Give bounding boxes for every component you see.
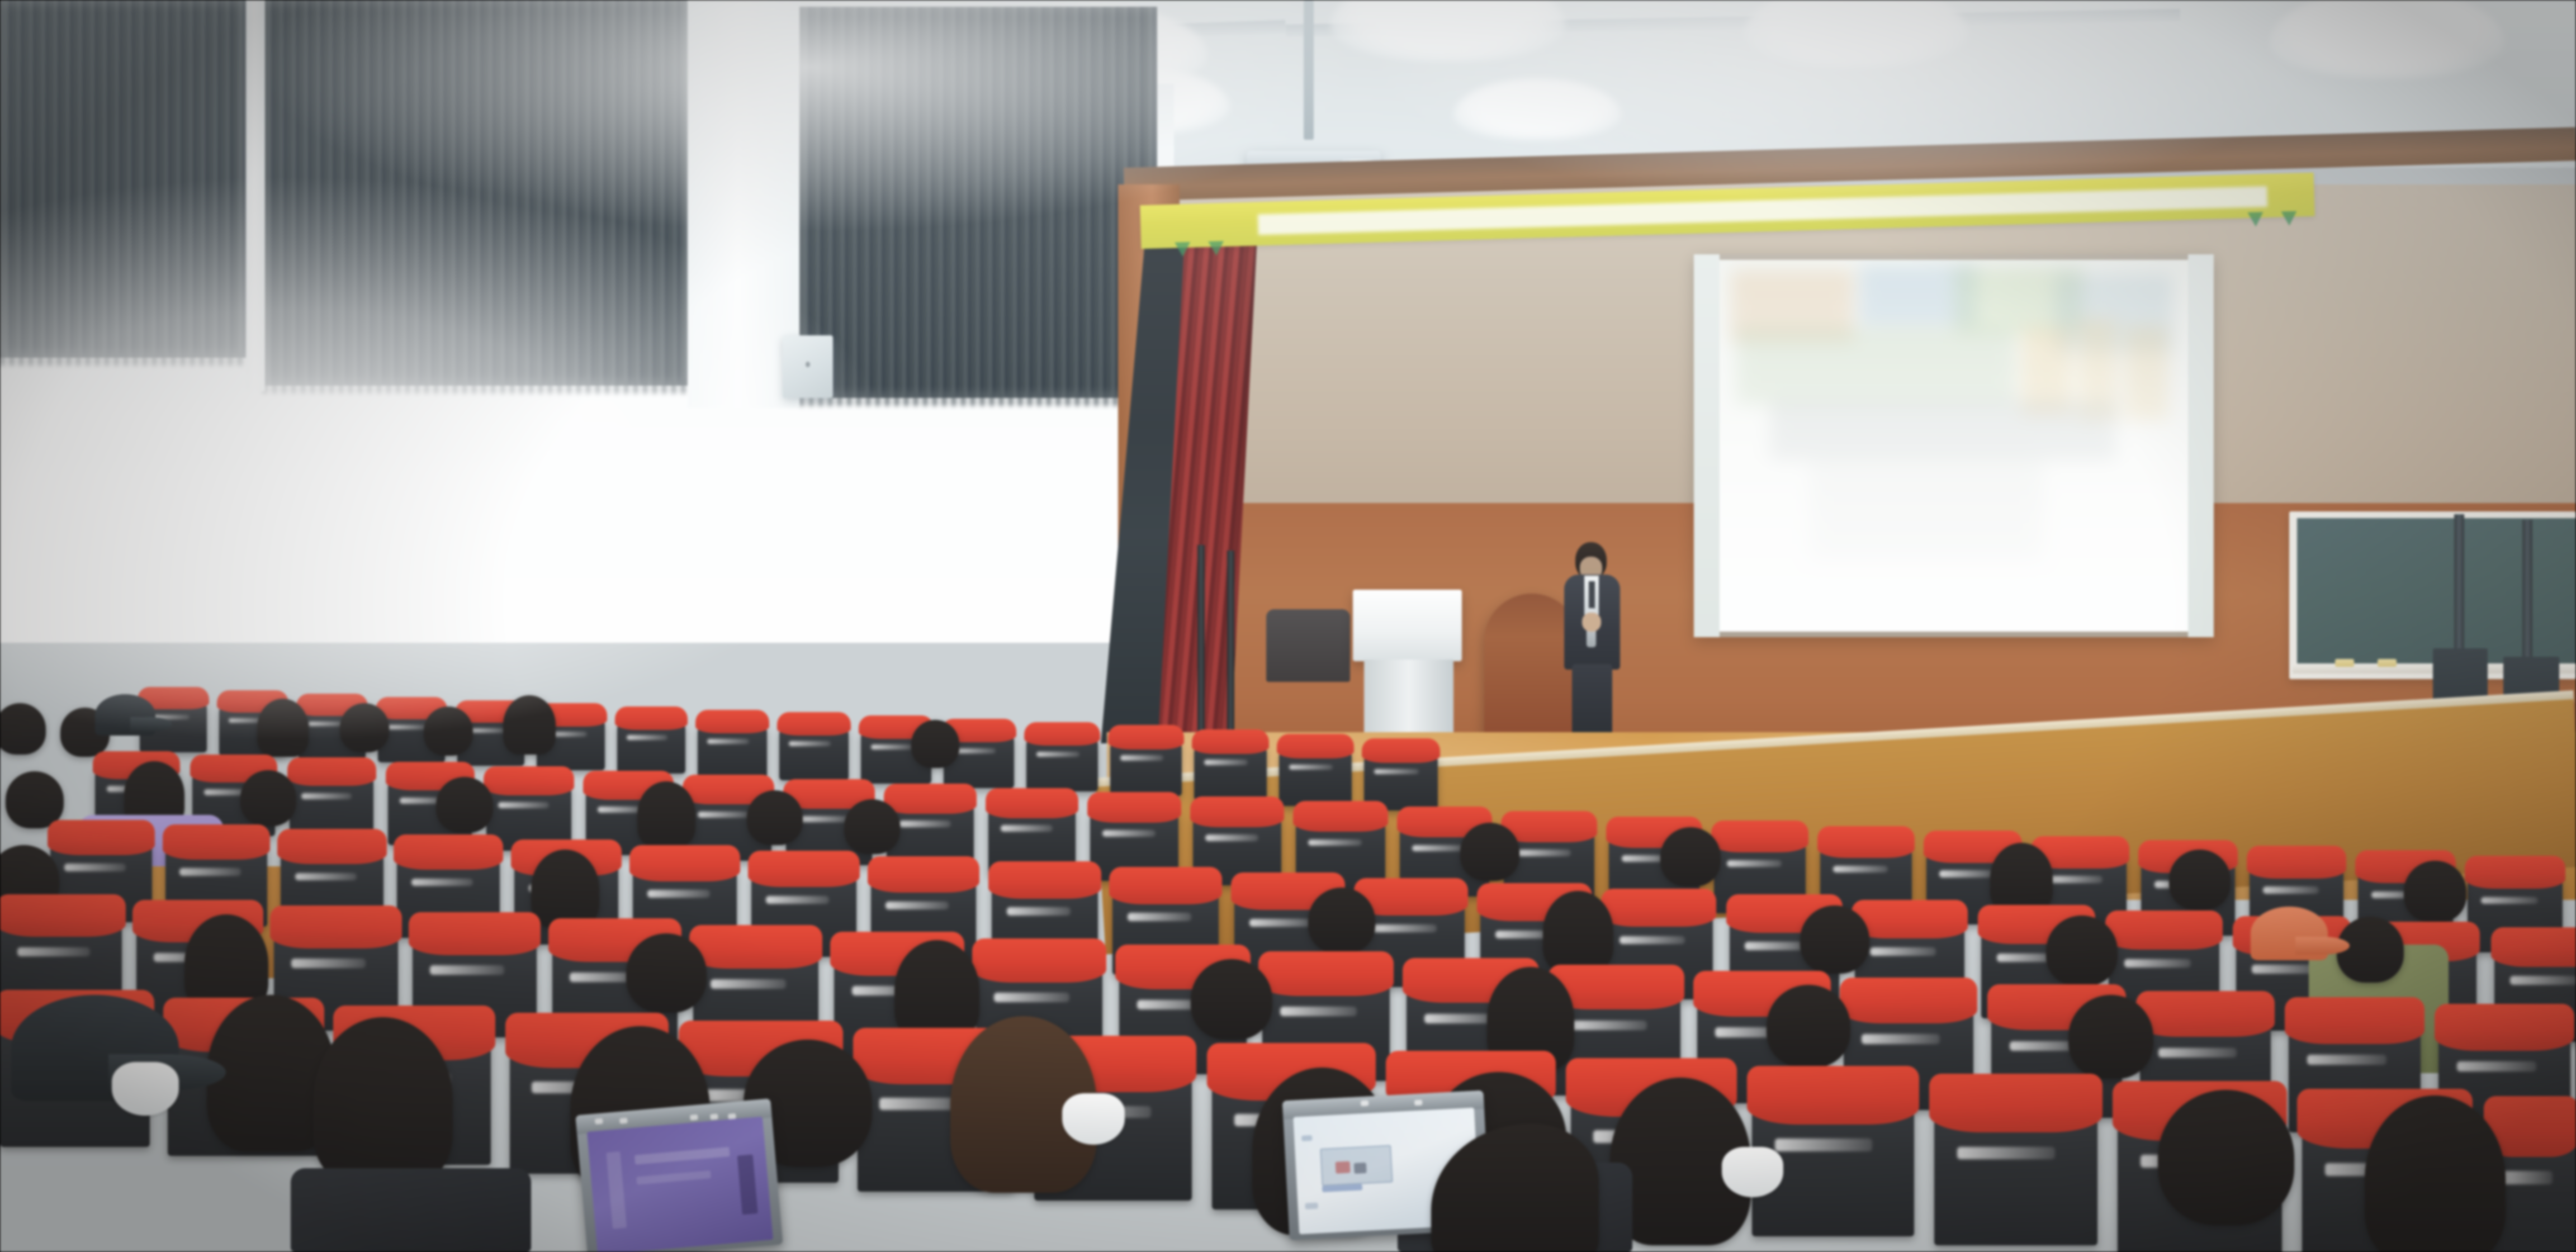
auditorium-seat <box>617 719 685 774</box>
laptop-key-dot <box>728 1113 736 1120</box>
banner-triangle-icon <box>2281 211 2297 226</box>
laptop-key-dot <box>619 1118 628 1124</box>
laptop-key-dot <box>1361 1101 1369 1107</box>
audience-head <box>1543 891 1613 973</box>
acoustic-curtain-panel <box>263 0 688 386</box>
auditorium-seat <box>1194 742 1267 800</box>
cap-icon <box>2251 907 2328 960</box>
laptop-front-left[interactable] <box>575 1098 783 1252</box>
acoustic-curtain-panel <box>0 0 246 358</box>
face-mask-icon <box>1722 1147 1783 1197</box>
audience-head <box>2158 1090 2294 1225</box>
person-dark-jacket <box>291 1168 531 1252</box>
audience-head <box>257 699 309 757</box>
auditorium-photo <box>0 0 2576 1252</box>
screen-ui-block <box>637 1171 711 1185</box>
acoustic-curtain-panel <box>799 7 1157 398</box>
ceiling-light <box>1744 0 1968 67</box>
projector-mount <box>1304 0 1314 140</box>
cap-icon <box>95 694 155 736</box>
audience-head <box>1308 888 1375 954</box>
screen-ui-block <box>1322 1184 1362 1192</box>
auditorium-seat <box>1110 738 1182 796</box>
audience-head <box>531 850 599 928</box>
audience-head <box>894 940 979 1041</box>
audience-head <box>436 777 493 833</box>
audience-head <box>637 781 695 847</box>
audience-head <box>2068 995 2153 1079</box>
wall-speaker-box <box>783 335 833 398</box>
banner-triangle-icon <box>1208 241 1224 256</box>
audience-head <box>6 771 64 828</box>
audience-head <box>503 695 556 755</box>
audience-head <box>2046 916 2118 986</box>
screen-ui-block <box>1336 1161 1351 1173</box>
screen-right-border <box>2188 254 2214 637</box>
audience-head <box>1800 905 1869 974</box>
laptop-screen[interactable] <box>586 1117 773 1252</box>
banner-triangle-icon <box>1175 242 1191 257</box>
audience-head <box>340 703 389 752</box>
laptop-key-dot <box>710 1114 718 1120</box>
audience-head <box>313 1017 453 1185</box>
screen-ui-block <box>1301 1135 1313 1141</box>
banner-triangle-icon <box>2247 212 2264 227</box>
audience-head <box>844 799 900 854</box>
auditorium-seat <box>1026 734 1098 791</box>
audience-head <box>911 720 959 768</box>
screen-ui-block <box>1305 1203 1318 1210</box>
audience-head <box>626 933 707 1013</box>
face-mask-icon <box>112 1062 179 1116</box>
laptop-key-dot <box>595 1118 603 1125</box>
audience-head <box>1767 985 1850 1068</box>
audience-seating <box>0 604 2576 1252</box>
screen-ui-block <box>737 1155 758 1215</box>
ceiling-light <box>2270 0 2504 78</box>
auditorium-seat <box>1934 1104 2097 1245</box>
screen-ui-block <box>1353 1163 1367 1174</box>
audience-head <box>1660 827 1721 886</box>
laptop-key-dot <box>690 1115 698 1121</box>
audience-head <box>2365 1095 2506 1252</box>
audience-head <box>747 790 803 845</box>
wall-pillar <box>246 0 265 391</box>
screen-ui-block <box>606 1151 627 1229</box>
audience-head <box>1460 823 1519 881</box>
speaker-box-dot <box>806 362 810 367</box>
cap-brim-icon <box>2295 937 2350 955</box>
screen-ui-block <box>634 1147 730 1165</box>
audience-head <box>2169 850 2231 910</box>
auditorium-seat <box>1279 747 1352 806</box>
projection-screen-surface <box>1720 260 2188 632</box>
audience-head <box>0 703 46 755</box>
screen-left-border <box>1694 254 1720 637</box>
audience-head <box>1990 843 2053 913</box>
screen-overexposure-wash <box>1720 260 2188 632</box>
audience-head <box>1191 959 1272 1040</box>
face-mask-icon <box>1062 1093 1125 1145</box>
auditorium-seat <box>779 724 849 780</box>
audience-head <box>424 706 473 756</box>
laptop-key-dot <box>1414 1099 1423 1106</box>
auditorium-seat <box>698 722 767 778</box>
audience-head <box>2404 861 2466 922</box>
projection-screen <box>1694 254 2214 637</box>
audience-head <box>240 770 296 826</box>
cap-brim-icon <box>130 717 173 731</box>
